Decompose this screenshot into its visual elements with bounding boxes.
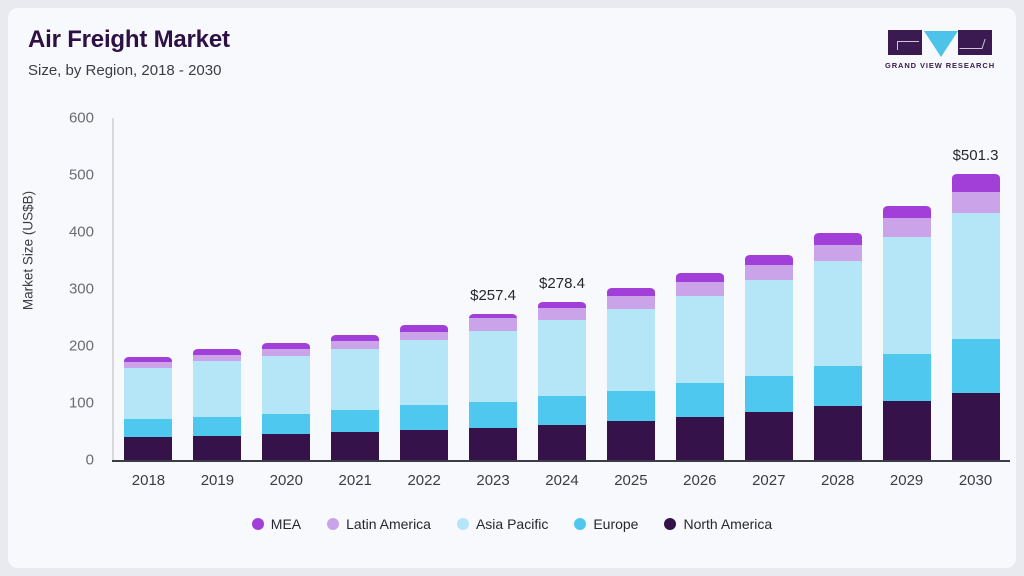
bar-segment-2022-latin-america[interactable] (400, 331, 448, 340)
bar-segment-2024-north-america[interactable] (538, 425, 586, 460)
bar-segment-2025-latin-america[interactable] (607, 295, 655, 309)
y-tick-300: 300 (32, 281, 94, 298)
bar-segment-2024-latin-america[interactable] (538, 307, 586, 320)
bar-value-label-2024: $278.4 (539, 275, 585, 292)
chart-card: Air Freight Market Size, by Region, 2018… (8, 8, 1016, 568)
bar-segment-2021-mea[interactable] (331, 334, 379, 342)
bar-segment-2029-europe[interactable] (883, 353, 931, 401)
bar-segment-2026-europe[interactable] (676, 382, 724, 417)
bar-segment-2027-north-america[interactable] (745, 412, 793, 460)
bar-segment-2023-europe[interactable] (469, 401, 517, 428)
bar-segment-2020-latin-america[interactable] (262, 348, 310, 356)
bar-segment-2030-north-america[interactable] (952, 393, 1000, 460)
bar-segment-2019-asia-pacific[interactable] (193, 360, 241, 416)
x-tick-2022: 2022 (390, 472, 459, 489)
bar-segment-2020-europe[interactable] (262, 413, 310, 434)
y-tick-600: 600 (32, 110, 94, 127)
y-tick-200: 200 (32, 338, 94, 355)
bar-segment-2022-asia-pacific[interactable] (400, 339, 448, 405)
bar-segment-2030-europe[interactable] (952, 338, 1000, 393)
bar-group-2028[interactable] (814, 118, 862, 460)
bar-group-2029[interactable] (883, 118, 931, 460)
bar-segment-2026-asia-pacific[interactable] (676, 295, 724, 383)
legend-item-latin-america[interactable]: Latin America (327, 516, 431, 532)
bar-segment-2020-mea[interactable] (262, 342, 310, 349)
x-tick-2026: 2026 (665, 472, 734, 489)
x-tick-2020: 2020 (252, 472, 321, 489)
bar-segment-2019-latin-america[interactable] (193, 354, 241, 361)
bar-segment-2028-europe[interactable] (814, 365, 862, 406)
bar-segment-2022-mea[interactable] (400, 324, 448, 332)
bar-segment-2019-north-america[interactable] (193, 436, 241, 461)
bar-segment-2020-north-america[interactable] (262, 434, 310, 460)
bar-segment-2028-latin-america[interactable] (814, 244, 862, 262)
bar-value-label-2030: $501.3 (953, 147, 999, 164)
bar-group-2024[interactable]: $278.4 (538, 118, 586, 460)
legend-dot-icon (457, 518, 469, 530)
x-axis-line (112, 460, 1010, 462)
legend-label: MEA (271, 516, 301, 532)
y-tick-0: 0 (32, 452, 94, 469)
x-tick-2018: 2018 (114, 472, 183, 489)
legend-item-north-america[interactable]: North America (664, 516, 772, 532)
bar-segment-2028-mea[interactable] (814, 232, 862, 245)
bar-segment-2027-asia-pacific[interactable] (745, 279, 793, 376)
bar-segment-2018-latin-america[interactable] (124, 361, 172, 368)
bar-segment-2029-latin-america[interactable] (883, 217, 931, 237)
bar-segment-2023-asia-pacific[interactable] (469, 330, 517, 402)
x-tick-2025: 2025 (596, 472, 665, 489)
bar-segment-2025-europe[interactable] (607, 390, 655, 421)
bar-segment-2029-asia-pacific[interactable] (883, 236, 931, 354)
legend-label: North America (683, 516, 772, 532)
bar-segment-2029-mea[interactable] (883, 205, 931, 219)
bar-segment-2028-asia-pacific[interactable] (814, 260, 862, 366)
bar-group-2021[interactable] (331, 118, 379, 460)
bars-container: $257.4$278.4$501.3 (114, 118, 1010, 460)
bar-group-2019[interactable] (193, 118, 241, 460)
bar-segment-2023-north-america[interactable] (469, 428, 517, 460)
chart-legend: MEALatin AmericaAsia PacificEuropeNorth … (8, 516, 1016, 532)
x-tick-2024: 2024 (528, 472, 597, 489)
bar-segment-2024-mea[interactable] (538, 301, 586, 309)
legend-dot-icon (327, 518, 339, 530)
bar-segment-2019-mea[interactable] (193, 348, 241, 355)
bar-group-2030[interactable]: $501.3 (952, 118, 1000, 460)
bar-group-2022[interactable] (400, 118, 448, 460)
bar-segment-2022-north-america[interactable] (400, 430, 448, 460)
x-tick-2028: 2028 (803, 472, 872, 489)
chart-plot: Market Size (US$B) 0100200300400500600 $… (8, 8, 1016, 568)
bar-segment-2027-europe[interactable] (745, 375, 793, 412)
bar-segment-2021-latin-america[interactable] (331, 340, 379, 348)
bar-segment-2025-mea[interactable] (607, 287, 655, 296)
bar-segment-2019-europe[interactable] (193, 416, 241, 436)
bar-segment-2030-mea[interactable] (952, 173, 1000, 192)
legend-item-europe[interactable]: Europe (574, 516, 638, 532)
bar-group-2026[interactable] (676, 118, 724, 460)
y-tick-400: 400 (32, 224, 94, 241)
bar-segment-2022-europe[interactable] (400, 404, 448, 430)
y-tick-100: 100 (32, 395, 94, 412)
x-tick-2019: 2019 (183, 472, 252, 489)
bar-group-2023[interactable]: $257.4 (469, 118, 517, 460)
bar-group-2027[interactable] (745, 118, 793, 460)
bar-segment-2026-mea[interactable] (676, 272, 724, 282)
bar-segment-2024-europe[interactable] (538, 395, 586, 425)
bar-segment-2021-europe[interactable] (331, 409, 379, 432)
bar-segment-2025-north-america[interactable] (607, 421, 655, 460)
x-tick-2027: 2027 (734, 472, 803, 489)
y-tick-500: 500 (32, 167, 94, 184)
bar-group-2020[interactable] (262, 118, 310, 460)
bar-segment-2020-asia-pacific[interactable] (262, 355, 310, 414)
bar-segment-2018-north-america[interactable] (124, 437, 172, 460)
bar-segment-2018-europe[interactable] (124, 418, 172, 437)
bar-group-2025[interactable] (607, 118, 655, 460)
x-tick-2021: 2021 (321, 472, 390, 489)
bar-segment-2026-north-america[interactable] (676, 417, 724, 460)
x-tick-2029: 2029 (872, 472, 941, 489)
bar-segment-2018-asia-pacific[interactable] (124, 367, 172, 419)
bar-value-label-2023: $257.4 (470, 287, 516, 304)
bar-segment-2026-latin-america[interactable] (676, 281, 724, 296)
bar-segment-2030-asia-pacific[interactable] (952, 212, 1000, 339)
legend-dot-icon (252, 518, 264, 530)
bar-segment-2018-mea[interactable] (124, 356, 172, 362)
bar-segment-2028-north-america[interactable] (814, 406, 862, 460)
bar-segment-2025-asia-pacific[interactable] (607, 308, 655, 391)
legend-label: Europe (593, 516, 638, 532)
bar-segment-2023-latin-america[interactable] (469, 317, 517, 331)
bar-segment-2029-north-america[interactable] (883, 401, 931, 460)
bar-segment-2021-asia-pacific[interactable] (331, 348, 379, 411)
legend-item-mea[interactable]: MEA (252, 516, 301, 532)
legend-label: Asia Pacific (476, 516, 548, 532)
legend-dot-icon (664, 518, 676, 530)
bar-segment-2021-north-america[interactable] (331, 432, 379, 460)
bar-group-2018[interactable] (124, 118, 172, 460)
bar-segment-2030-latin-america[interactable] (952, 191, 1000, 213)
x-tick-2030: 2030 (941, 472, 1010, 489)
x-tick-2023: 2023 (459, 472, 528, 489)
bar-segment-2027-mea[interactable] (745, 254, 793, 265)
bar-segment-2023-mea[interactable] (469, 313, 517, 318)
legend-item-asia-pacific[interactable]: Asia Pacific (457, 516, 548, 532)
bar-segment-2027-latin-america[interactable] (745, 264, 793, 280)
legend-label: Latin America (346, 516, 431, 532)
legend-dot-icon (574, 518, 586, 530)
bar-segment-2024-asia-pacific[interactable] (538, 319, 586, 396)
